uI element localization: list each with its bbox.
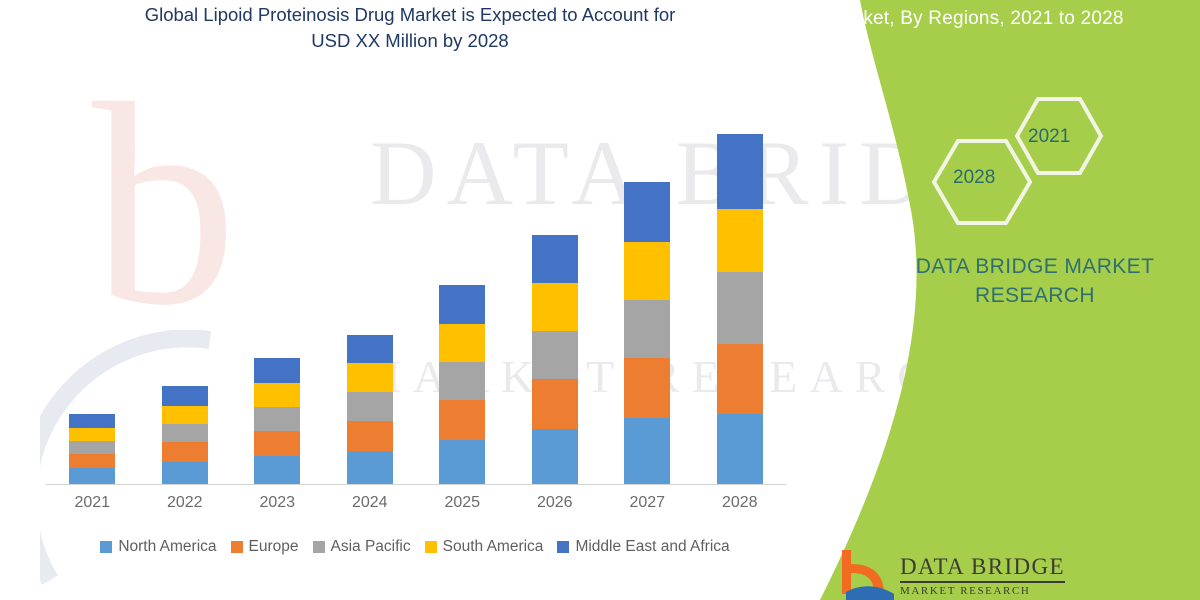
x-axis-tick-label: 2022 xyxy=(140,494,230,512)
bar-segment xyxy=(162,386,208,406)
bar-segment xyxy=(254,456,300,484)
bar-segment xyxy=(624,300,670,358)
legend-swatch-icon xyxy=(313,541,325,553)
stacked-bar xyxy=(347,335,393,484)
logo-sub-text: MARKET RESEARCH xyxy=(900,585,1065,597)
bar-segment xyxy=(717,272,763,344)
brand-name-line-1: DATA BRIDGE MARKET xyxy=(880,255,1190,279)
bar-segment xyxy=(624,418,670,484)
bar-segment xyxy=(717,209,763,272)
chart-title-line-2: USD XX Million by 2028 xyxy=(60,28,760,54)
legend-label: Asia Pacific xyxy=(331,538,411,556)
bar-segment xyxy=(347,363,393,392)
bar-column xyxy=(602,84,692,484)
legend-label: North America xyxy=(118,538,216,556)
x-axis-tick-label: 2023 xyxy=(232,494,322,512)
bar-segment xyxy=(254,383,300,407)
bar-segment xyxy=(69,428,115,441)
bar-segment xyxy=(347,335,393,363)
legend-item[interactable]: North America xyxy=(100,538,216,556)
bar-segment xyxy=(717,414,763,484)
legend-swatch-icon xyxy=(100,541,112,553)
bar-segment xyxy=(532,235,578,283)
infographic-root: b DATA BRIDGE MARKET RESEARCH Global Lip… xyxy=(0,0,1200,600)
x-axis-tick-label: 2025 xyxy=(417,494,507,512)
brand-name-line-2: RESEARCH xyxy=(880,284,1190,308)
legend-item[interactable]: South America xyxy=(425,538,544,556)
x-axis-tick-label: 2021 xyxy=(47,494,137,512)
bar-segment xyxy=(69,441,115,454)
bridge-b-mark-icon xyxy=(838,548,898,600)
chart-title-line-1: Global Lipoid Proteinosis Drug Market is… xyxy=(60,2,760,28)
bar-segment xyxy=(439,285,485,324)
bar-segment xyxy=(69,414,115,428)
stacked-bar-series xyxy=(46,84,786,484)
bar-column xyxy=(510,84,600,484)
bar-segment xyxy=(254,407,300,431)
chart-title: Global Lipoid Proteinosis Drug Market is… xyxy=(60,2,760,54)
bar-segment xyxy=(624,182,670,242)
bar-segment xyxy=(347,451,393,484)
legend-label: Middle East and Africa xyxy=(575,538,729,556)
bar-segment xyxy=(254,431,300,456)
x-axis-line xyxy=(46,484,786,485)
bar-segment xyxy=(532,331,578,379)
x-axis-tick-label: 2027 xyxy=(602,494,692,512)
bar-segment xyxy=(254,358,300,383)
bar-segment xyxy=(532,283,578,331)
logo-main-text: DATA BRIDGE xyxy=(900,554,1065,583)
chart-legend: North AmericaEuropeAsia PacificSouth Ame… xyxy=(40,538,790,556)
stacked-bar xyxy=(254,358,300,484)
bar-segment xyxy=(162,424,208,442)
bar-segment xyxy=(162,462,208,484)
bar-segment xyxy=(624,358,670,418)
bar-segment xyxy=(717,134,763,209)
stacked-bar xyxy=(717,134,763,484)
panel-heading: Market, By Regions, 2021 to 2028 xyxy=(830,0,1200,38)
bar-segment xyxy=(624,242,670,300)
bar-segment xyxy=(69,454,115,468)
bar-column xyxy=(47,84,137,484)
hexagon-label-2028: 2028 xyxy=(953,167,995,189)
bar-column xyxy=(325,84,415,484)
x-axis-tick-label: 2028 xyxy=(695,494,785,512)
hexagon-label-2021: 2021 xyxy=(1028,126,1070,148)
bar-segment xyxy=(162,442,208,462)
bar-segment xyxy=(439,324,485,362)
hexagon-group: 2021 2028 xyxy=(920,95,1120,225)
legend-label: South America xyxy=(443,538,544,556)
bar-segment xyxy=(162,406,208,424)
data-bridge-logo: DATA BRIDGE MARKET RESEARCH xyxy=(838,548,1198,600)
bar-segment xyxy=(439,400,485,440)
bar-segment xyxy=(347,421,393,451)
bar-segment xyxy=(532,379,578,429)
legend-swatch-icon xyxy=(425,541,437,553)
legend-swatch-icon xyxy=(557,541,569,553)
legend-item[interactable]: Asia Pacific xyxy=(313,538,411,556)
x-axis-labels: 20212022202320242025202620272028 xyxy=(46,494,786,512)
bar-segment xyxy=(532,429,578,484)
bar-column xyxy=(232,84,322,484)
bar-segment xyxy=(439,440,485,484)
legend-swatch-icon xyxy=(231,541,243,553)
legend-item[interactable]: Europe xyxy=(231,538,299,556)
bar-segment xyxy=(717,344,763,414)
stacked-bar xyxy=(69,414,115,484)
bar-column xyxy=(140,84,230,484)
stacked-bar xyxy=(624,182,670,484)
bar-column xyxy=(417,84,507,484)
x-axis-tick-label: 2024 xyxy=(325,494,415,512)
legend-item[interactable]: Middle East and Africa xyxy=(557,538,729,556)
stacked-bar xyxy=(162,386,208,484)
stacked-bar xyxy=(532,235,578,484)
legend-label: Europe xyxy=(249,538,299,556)
bar-column xyxy=(695,84,785,484)
stacked-bar xyxy=(439,285,485,484)
bar-segment xyxy=(347,392,393,421)
bar-segment xyxy=(439,362,485,400)
x-axis-tick-label: 2026 xyxy=(510,494,600,512)
bar-segment xyxy=(69,468,115,484)
